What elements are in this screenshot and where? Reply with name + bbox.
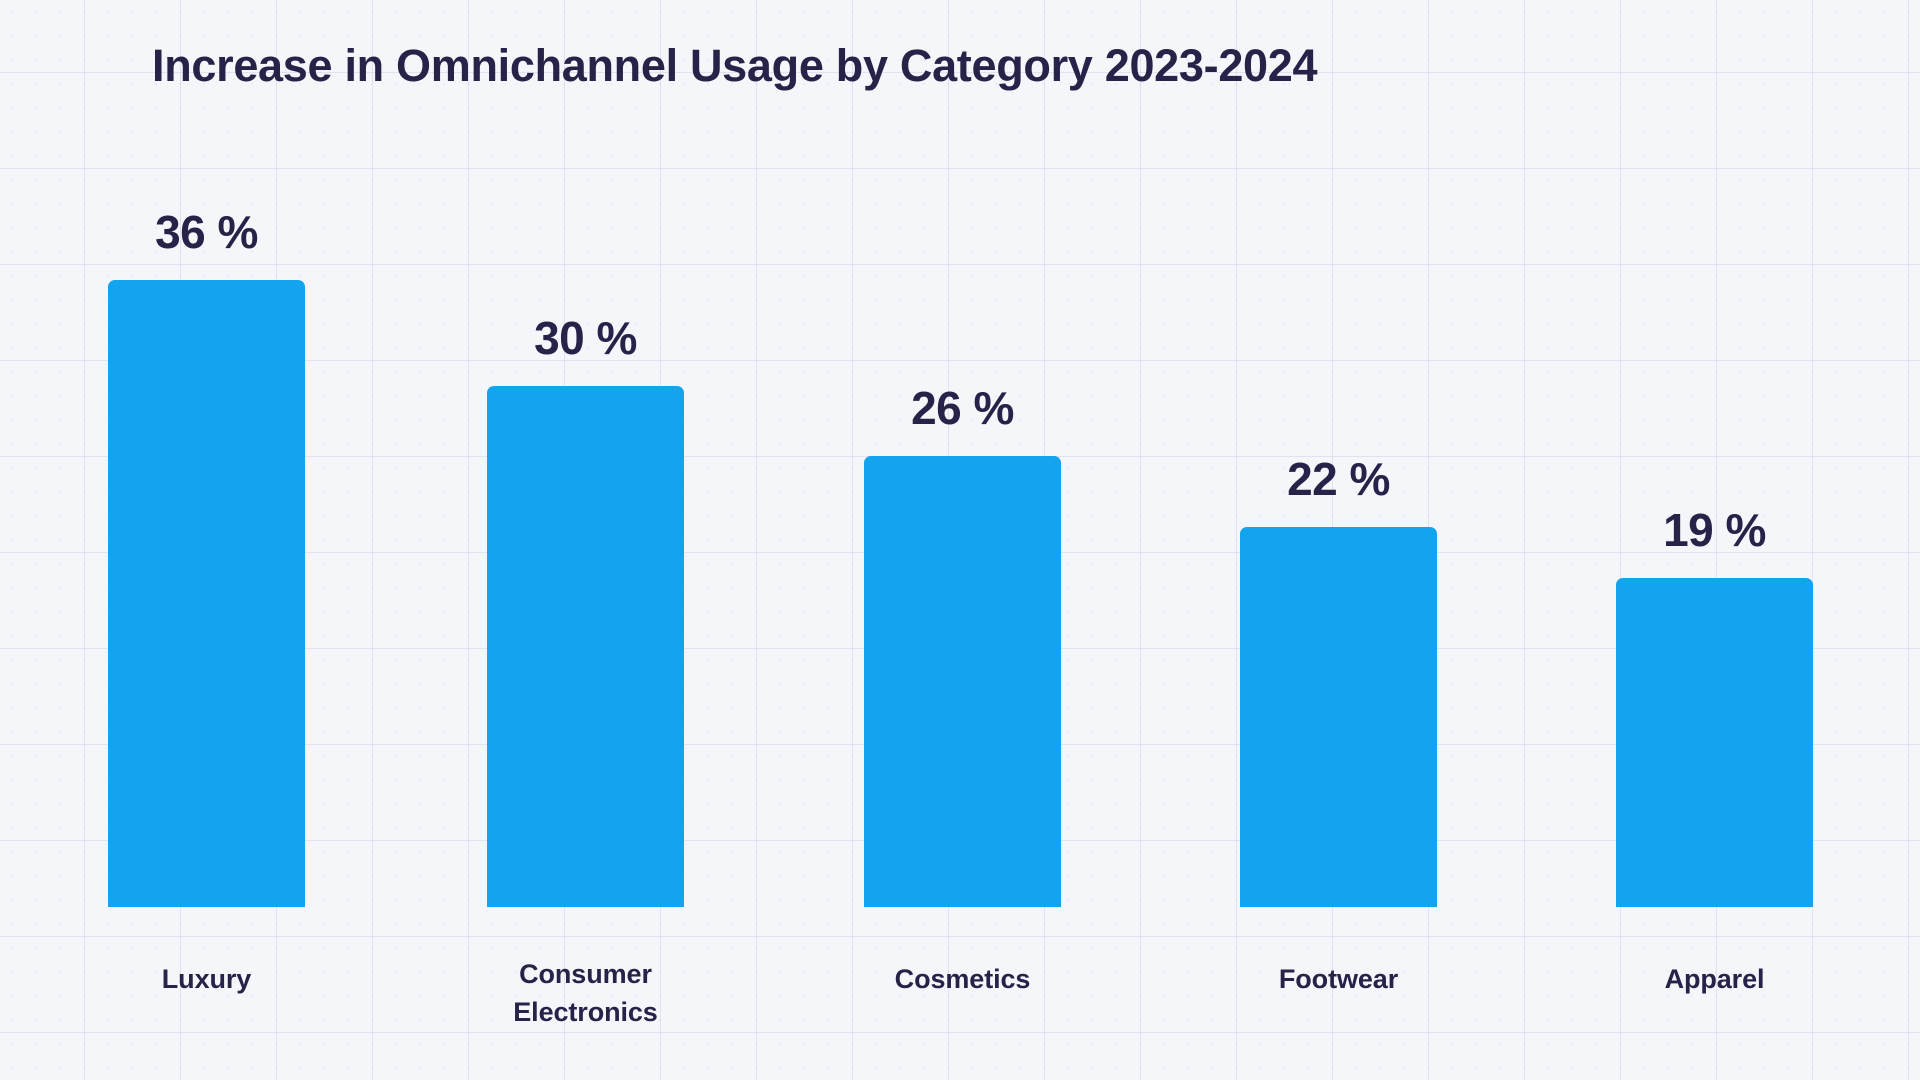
bar-rect-luxury[interactable] — [108, 280, 305, 907]
bar-category-label-consumer-electronics: Consumer Electronics — [447, 955, 724, 1032]
bar-value-label-cosmetics: 26 % — [864, 381, 1061, 435]
bar-value-label-consumer-electronics: 30 % — [487, 311, 684, 365]
bar-category-label-apparel: Apparel — [1576, 960, 1853, 998]
bar-rect-cosmetics[interactable] — [864, 456, 1061, 907]
bar-chart-plot-area: 36 % Luxury 30 % Consumer Electronics 26… — [0, 0, 1920, 1080]
bar-group-footwear: 22 % Footwear — [1240, 0, 1437, 1080]
bar-group-consumer-electronics: 30 % Consumer Electronics — [487, 0, 684, 1080]
bar-group-cosmetics: 26 % Cosmetics — [864, 0, 1061, 1080]
infographic-canvas: Increase in Omnichannel Usage by Categor… — [0, 0, 1920, 1080]
bar-category-label-line-1: Consumer — [519, 959, 652, 989]
bar-rect-footwear[interactable] — [1240, 527, 1437, 907]
bar-value-label-luxury: 36 % — [108, 205, 305, 259]
bar-category-label-footwear: Footwear — [1200, 960, 1477, 998]
bar-group-luxury: 36 % Luxury — [108, 0, 305, 1080]
bar-category-label-cosmetics: Cosmetics — [824, 960, 1101, 998]
bar-group-apparel: 19 % Apparel — [1616, 0, 1813, 1080]
bar-value-label-footwear: 22 % — [1240, 452, 1437, 506]
bar-category-label-line-2: Electronics — [513, 997, 657, 1027]
bar-category-label-luxury: Luxury — [68, 960, 345, 998]
bar-rect-consumer-electronics[interactable] — [487, 386, 684, 907]
bar-value-label-apparel: 19 % — [1616, 503, 1813, 557]
bar-rect-apparel[interactable] — [1616, 578, 1813, 907]
